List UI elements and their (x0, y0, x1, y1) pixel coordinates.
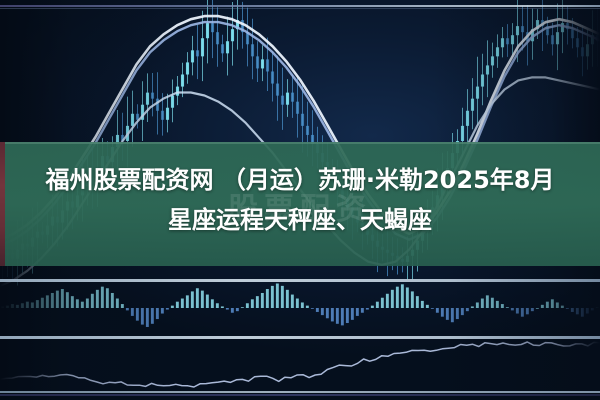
top-divider-line-secondary (0, 8, 600, 9)
title-band-top-edge (0, 142, 600, 144)
title-line-1: 福州股票配资网 （月运）苏珊·米勒2025年8月 (46, 160, 555, 200)
stock-banner-image: 股票配资 福州股票配资网 （月运）苏珊·米勒2025年8月 星座运程天秤座、天蝎… (0, 0, 600, 400)
panel-divider-2 (0, 336, 600, 339)
bottom-divider-line-secondary (0, 394, 600, 396)
banner-title: 福州股票配资网 （月运）苏珊·米勒2025年8月 星座运程天秤座、天蝎座 (0, 150, 600, 260)
title-line-2: 星座运程天秤座、天蝎座 (168, 200, 432, 240)
panel-divider-1 (0, 279, 600, 282)
top-divider-line (0, 5, 600, 7)
bottom-divider-line (0, 391, 600, 393)
